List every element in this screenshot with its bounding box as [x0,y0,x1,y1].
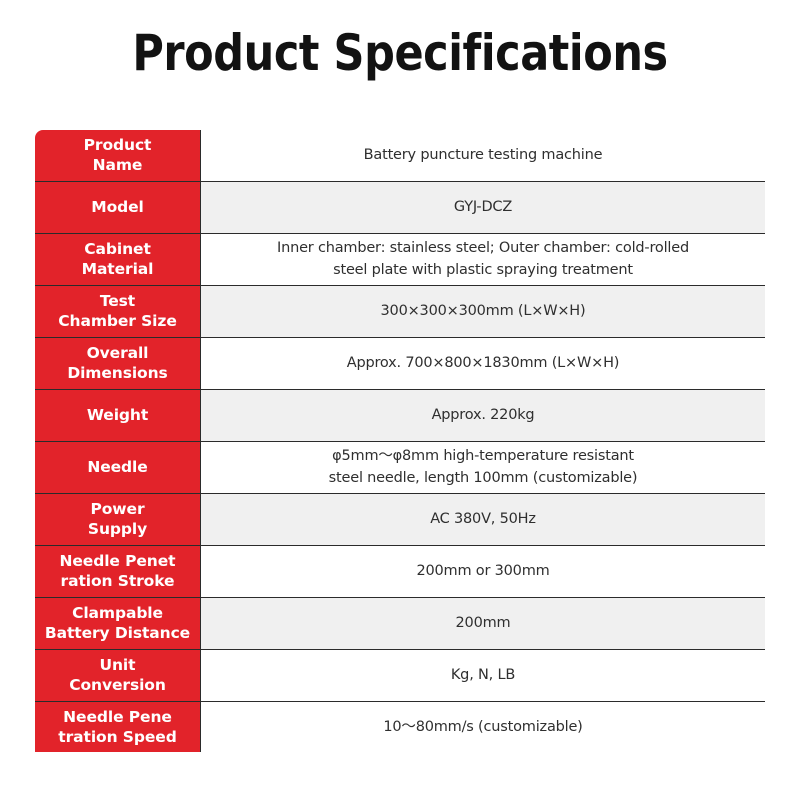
spec-label-cell: Needle Penetration Speed [34,701,201,753]
spec-value-line: Battery puncture testing machine [201,144,765,166]
spec-label-cell: Weight [34,389,201,441]
product-specifications-page: Product Specifications ProductNameBatter… [0,0,800,800]
spec-label-line: Needle [35,457,200,477]
spec-value-cell: 300×300×300mm (L×W×H) [201,285,767,337]
spec-label-cell: CabinetMaterial [34,233,201,285]
spec-label-cell: Needle [34,441,201,493]
spec-value-line: φ5mm～φ8mm high-temperature resistant [201,445,765,467]
spec-value-line: 200mm [201,612,765,634]
spec-label-line: Overall [35,343,200,363]
spec-value-line: 200mm or 300mm [201,560,765,582]
spec-label-line: Test [35,291,200,311]
table-row: Needleφ5mm～φ8mm high-temperature resista… [34,441,766,493]
table-row: PowerSupplyAC 380V, 50Hz [34,493,766,545]
spec-label-line: ration Stroke [35,571,200,591]
spec-label-line: Battery Distance [35,623,200,643]
table-row: Needle Penetration Stroke200mm or 300mm [34,545,766,597]
spec-value-cell: φ5mm～φ8mm high-temperature resistantstee… [201,441,767,493]
spec-label-line: Supply [35,519,200,539]
spec-value-cell: Battery puncture testing machine [201,129,767,181]
spec-value-cell: 200mm or 300mm [201,545,767,597]
spec-label-line: Cabinet [35,239,200,259]
spec-label-line: Needle Pene [35,707,200,727]
table-row: ModelGYJ-DCZ [34,181,766,233]
specifications-table-container: ProductNameBattery puncture testing mach… [33,128,767,754]
spec-value-line: 10～80mm/s (customizable) [201,716,765,738]
spec-value-line: GYJ-DCZ [201,196,765,218]
spec-label-line: Material [35,259,200,279]
spec-value-cell: Approx. 700×800×1830mm (L×W×H) [201,337,767,389]
table-row: CabinetMaterialInner chamber: stainless … [34,233,766,285]
table-row: OverallDimensionsApprox. 700×800×1830mm … [34,337,766,389]
spec-value-line: Approx. 700×800×1830mm (L×W×H) [201,352,765,374]
spec-value-cell: Inner chamber: stainless steel; Outer ch… [201,233,767,285]
spec-value-line: AC 380V, 50Hz [201,508,765,530]
spec-label-cell: ProductName [34,129,201,181]
spec-label-cell: Model [34,181,201,233]
spec-label-cell: UnitConversion [34,649,201,701]
table-row: UnitConversionKg, N, LB [34,649,766,701]
spec-value-line: Approx. 220kg [201,404,765,426]
specifications-table-body: ProductNameBattery puncture testing mach… [34,129,766,753]
spec-value-line: 300×300×300mm (L×W×H) [201,300,765,322]
table-row: ProductNameBattery puncture testing mach… [34,129,766,181]
spec-value-cell: 10～80mm/s (customizable) [201,701,767,753]
table-row: TestChamber Size300×300×300mm (L×W×H) [34,285,766,337]
spec-label-line: Product [35,135,200,155]
spec-label-cell: TestChamber Size [34,285,201,337]
spec-value-line: steel needle, length 100mm (customizable… [201,467,765,489]
spec-value-line: steel plate with plastic spraying treatm… [201,259,765,281]
table-row: ClampableBattery Distance200mm [34,597,766,649]
spec-label-line: Needle Penet [35,551,200,571]
spec-label-cell: OverallDimensions [34,337,201,389]
spec-value-cell: AC 380V, 50Hz [201,493,767,545]
spec-label-cell: PowerSupply [34,493,201,545]
spec-value-cell: Kg, N, LB [201,649,767,701]
spec-label-line: Clampable [35,603,200,623]
spec-value-cell: GYJ-DCZ [201,181,767,233]
spec-label-line: Weight [35,405,200,425]
spec-label-line: Dimensions [35,363,200,383]
spec-value-cell: Approx. 220kg [201,389,767,441]
spec-label-cell: ClampableBattery Distance [34,597,201,649]
spec-value-line: Kg, N, LB [201,664,765,686]
spec-label-line: Conversion [35,675,200,695]
table-row: Needle Penetration Speed10～80mm/s (custo… [34,701,766,753]
spec-label-cell: Needle Penetration Stroke [34,545,201,597]
spec-label-line: Name [35,155,200,175]
spec-value-line: Inner chamber: stainless steel; Outer ch… [201,237,765,259]
page-title: Product Specifications [56,22,744,84]
spec-label-line: Chamber Size [35,311,200,331]
specifications-table: ProductNameBattery puncture testing mach… [33,128,767,754]
spec-value-cell: 200mm [201,597,767,649]
spec-label-line: Power [35,499,200,519]
spec-label-line: Unit [35,655,200,675]
spec-label-line: tration Speed [35,727,200,747]
table-row: WeightApprox. 220kg [34,389,766,441]
spec-label-line: Model [35,197,200,217]
